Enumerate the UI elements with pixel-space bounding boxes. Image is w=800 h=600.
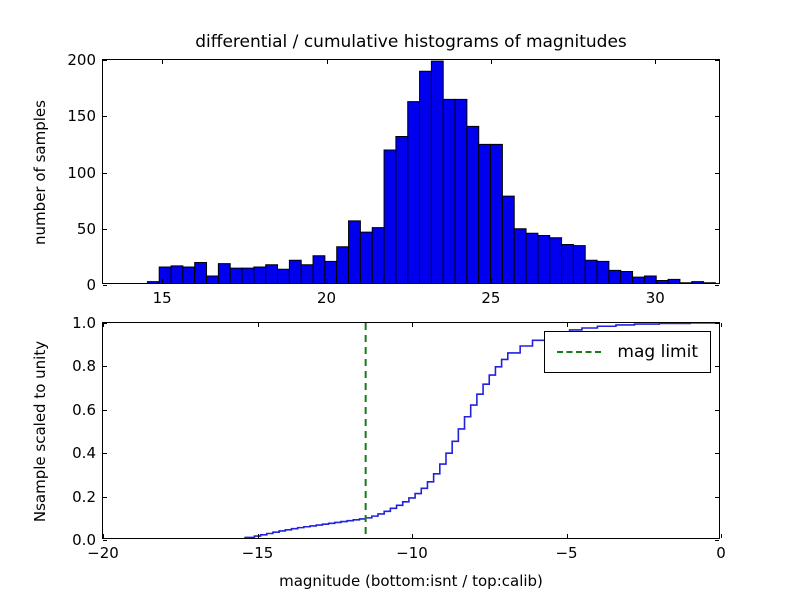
histogram-bar bbox=[431, 61, 443, 283]
histogram-bar bbox=[585, 260, 597, 283]
histogram-bar bbox=[443, 99, 455, 283]
x-tick-mark bbox=[162, 279, 163, 283]
y-tick-mark bbox=[103, 116, 107, 117]
x-tick-label: 30 bbox=[646, 289, 665, 307]
histogram-bar bbox=[230, 268, 242, 283]
histogram-bar bbox=[491, 144, 503, 283]
histogram-bar bbox=[159, 267, 171, 283]
histogram-bar bbox=[372, 228, 384, 283]
y-tick-label: 1.0 bbox=[72, 314, 96, 332]
histogram-bar bbox=[384, 150, 396, 283]
histogram-bar bbox=[242, 268, 254, 283]
histogram-bar bbox=[562, 245, 574, 284]
histogram-bar bbox=[420, 71, 432, 283]
y-tick-mark bbox=[103, 410, 107, 411]
histogram-bar bbox=[313, 256, 325, 283]
histogram-bar bbox=[171, 266, 183, 283]
y-tick-mark bbox=[715, 173, 719, 174]
histogram-bar bbox=[573, 246, 585, 283]
histogram-bar bbox=[467, 126, 479, 283]
x-tick-mark bbox=[491, 279, 492, 283]
x-tick-label: 15 bbox=[153, 289, 172, 307]
y-tick-label: 0.4 bbox=[72, 444, 96, 462]
y-tick-mark bbox=[715, 453, 719, 454]
histogram-bar bbox=[668, 279, 680, 283]
histogram-bar bbox=[301, 265, 313, 283]
histogram-bar bbox=[278, 269, 290, 283]
histogram-plot-area bbox=[103, 60, 719, 283]
x-tick-mark bbox=[327, 60, 328, 64]
histogram-bar bbox=[597, 261, 609, 283]
legend[interactable]: mag limit bbox=[544, 331, 711, 373]
histogram-bar bbox=[218, 264, 230, 283]
y-tick-mark bbox=[715, 540, 719, 541]
x-axis-label: magnitude (bottom:isnt / top:calib) bbox=[103, 572, 719, 590]
x-tick-mark bbox=[327, 279, 328, 283]
cumulative-axes: Nsample scaled to unity magnitude (botto… bbox=[102, 322, 720, 539]
histogram-y-axis-label: number of samples bbox=[31, 60, 49, 285]
y-tick-mark bbox=[103, 497, 107, 498]
x-tick-mark bbox=[103, 534, 104, 538]
y-tick-label: 150 bbox=[67, 107, 96, 125]
y-tick-label: 50 bbox=[77, 220, 96, 238]
chart-title: differential / cumulative histograms of … bbox=[103, 32, 719, 52]
histogram-bar bbox=[526, 233, 538, 283]
histogram-bar bbox=[266, 265, 278, 283]
histogram-bars bbox=[103, 60, 719, 283]
y-tick-mark bbox=[715, 323, 719, 324]
y-tick-mark bbox=[103, 453, 107, 454]
legend-dashed-line-icon bbox=[557, 351, 601, 353]
legend-label: mag limit bbox=[617, 342, 698, 362]
y-tick-mark bbox=[715, 410, 719, 411]
histogram-bar bbox=[514, 229, 526, 283]
histogram-bar bbox=[455, 99, 467, 283]
cumulative-y-axis-label: Nsample scaled to unity bbox=[31, 323, 49, 540]
y-tick-mark bbox=[715, 285, 719, 286]
x-tick-label: 20 bbox=[317, 289, 336, 307]
histogram-bar bbox=[656, 281, 668, 284]
x-tick-mark bbox=[412, 534, 413, 538]
x-tick-mark bbox=[258, 534, 259, 538]
x-tick-mark bbox=[721, 323, 722, 327]
x-tick-mark bbox=[162, 60, 163, 64]
x-tick-mark bbox=[412, 323, 413, 327]
x-tick-mark bbox=[491, 60, 492, 64]
x-tick-mark bbox=[258, 323, 259, 327]
histogram-bar bbox=[337, 247, 349, 283]
histogram-bar bbox=[396, 137, 408, 284]
histogram-bar bbox=[349, 221, 361, 283]
x-tick-label: 0 bbox=[716, 544, 726, 562]
histogram-bar bbox=[360, 232, 372, 283]
x-tick-mark bbox=[567, 534, 568, 538]
histogram-bar bbox=[692, 282, 704, 283]
x-tick-mark bbox=[655, 60, 656, 64]
histogram-bar bbox=[609, 270, 621, 283]
histogram-axes: differential / cumulative histograms of … bbox=[102, 59, 720, 284]
x-tick-label: −10 bbox=[396, 544, 428, 562]
x-tick-mark bbox=[103, 323, 104, 327]
x-tick-mark bbox=[655, 279, 656, 283]
y-tick-label: 200 bbox=[67, 51, 96, 69]
y-tick-mark bbox=[103, 540, 107, 541]
x-tick-mark bbox=[567, 323, 568, 327]
x-tick-label: −5 bbox=[555, 544, 577, 562]
histogram-bar bbox=[183, 267, 195, 283]
x-tick-label: −20 bbox=[87, 544, 119, 562]
histogram-bar bbox=[207, 276, 219, 283]
y-tick-mark bbox=[103, 285, 107, 286]
x-tick-label: −15 bbox=[242, 544, 274, 562]
histogram-bar bbox=[621, 272, 633, 284]
histogram-bar bbox=[408, 102, 420, 283]
y-tick-mark bbox=[715, 229, 719, 230]
y-tick-mark bbox=[103, 229, 107, 230]
histogram-bar bbox=[502, 196, 514, 283]
histogram-bar bbox=[550, 238, 562, 283]
y-tick-mark bbox=[103, 173, 107, 174]
histogram-bar bbox=[538, 236, 550, 284]
y-tick-label: 0.6 bbox=[72, 401, 96, 419]
y-tick-mark bbox=[715, 116, 719, 117]
y-tick-mark bbox=[715, 497, 719, 498]
x-tick-label: 25 bbox=[481, 289, 500, 307]
figure-canvas: differential / cumulative histograms of … bbox=[0, 0, 800, 600]
histogram-bar bbox=[289, 260, 301, 283]
histogram-bar bbox=[195, 263, 207, 284]
y-tick-mark bbox=[715, 60, 719, 61]
histogram-bar bbox=[633, 277, 645, 283]
histogram-bar bbox=[147, 282, 159, 283]
y-tick-mark bbox=[103, 60, 107, 61]
x-tick-mark bbox=[721, 534, 722, 538]
histogram-bar bbox=[254, 267, 266, 283]
y-tick-label: 100 bbox=[67, 164, 96, 182]
histogram-bar bbox=[479, 144, 491, 283]
y-tick-label: 0.2 bbox=[72, 488, 96, 506]
y-tick-label: 0 bbox=[86, 276, 96, 294]
y-tick-mark bbox=[103, 366, 107, 367]
y-tick-label: 0.8 bbox=[72, 357, 96, 375]
y-tick-mark bbox=[715, 366, 719, 367]
